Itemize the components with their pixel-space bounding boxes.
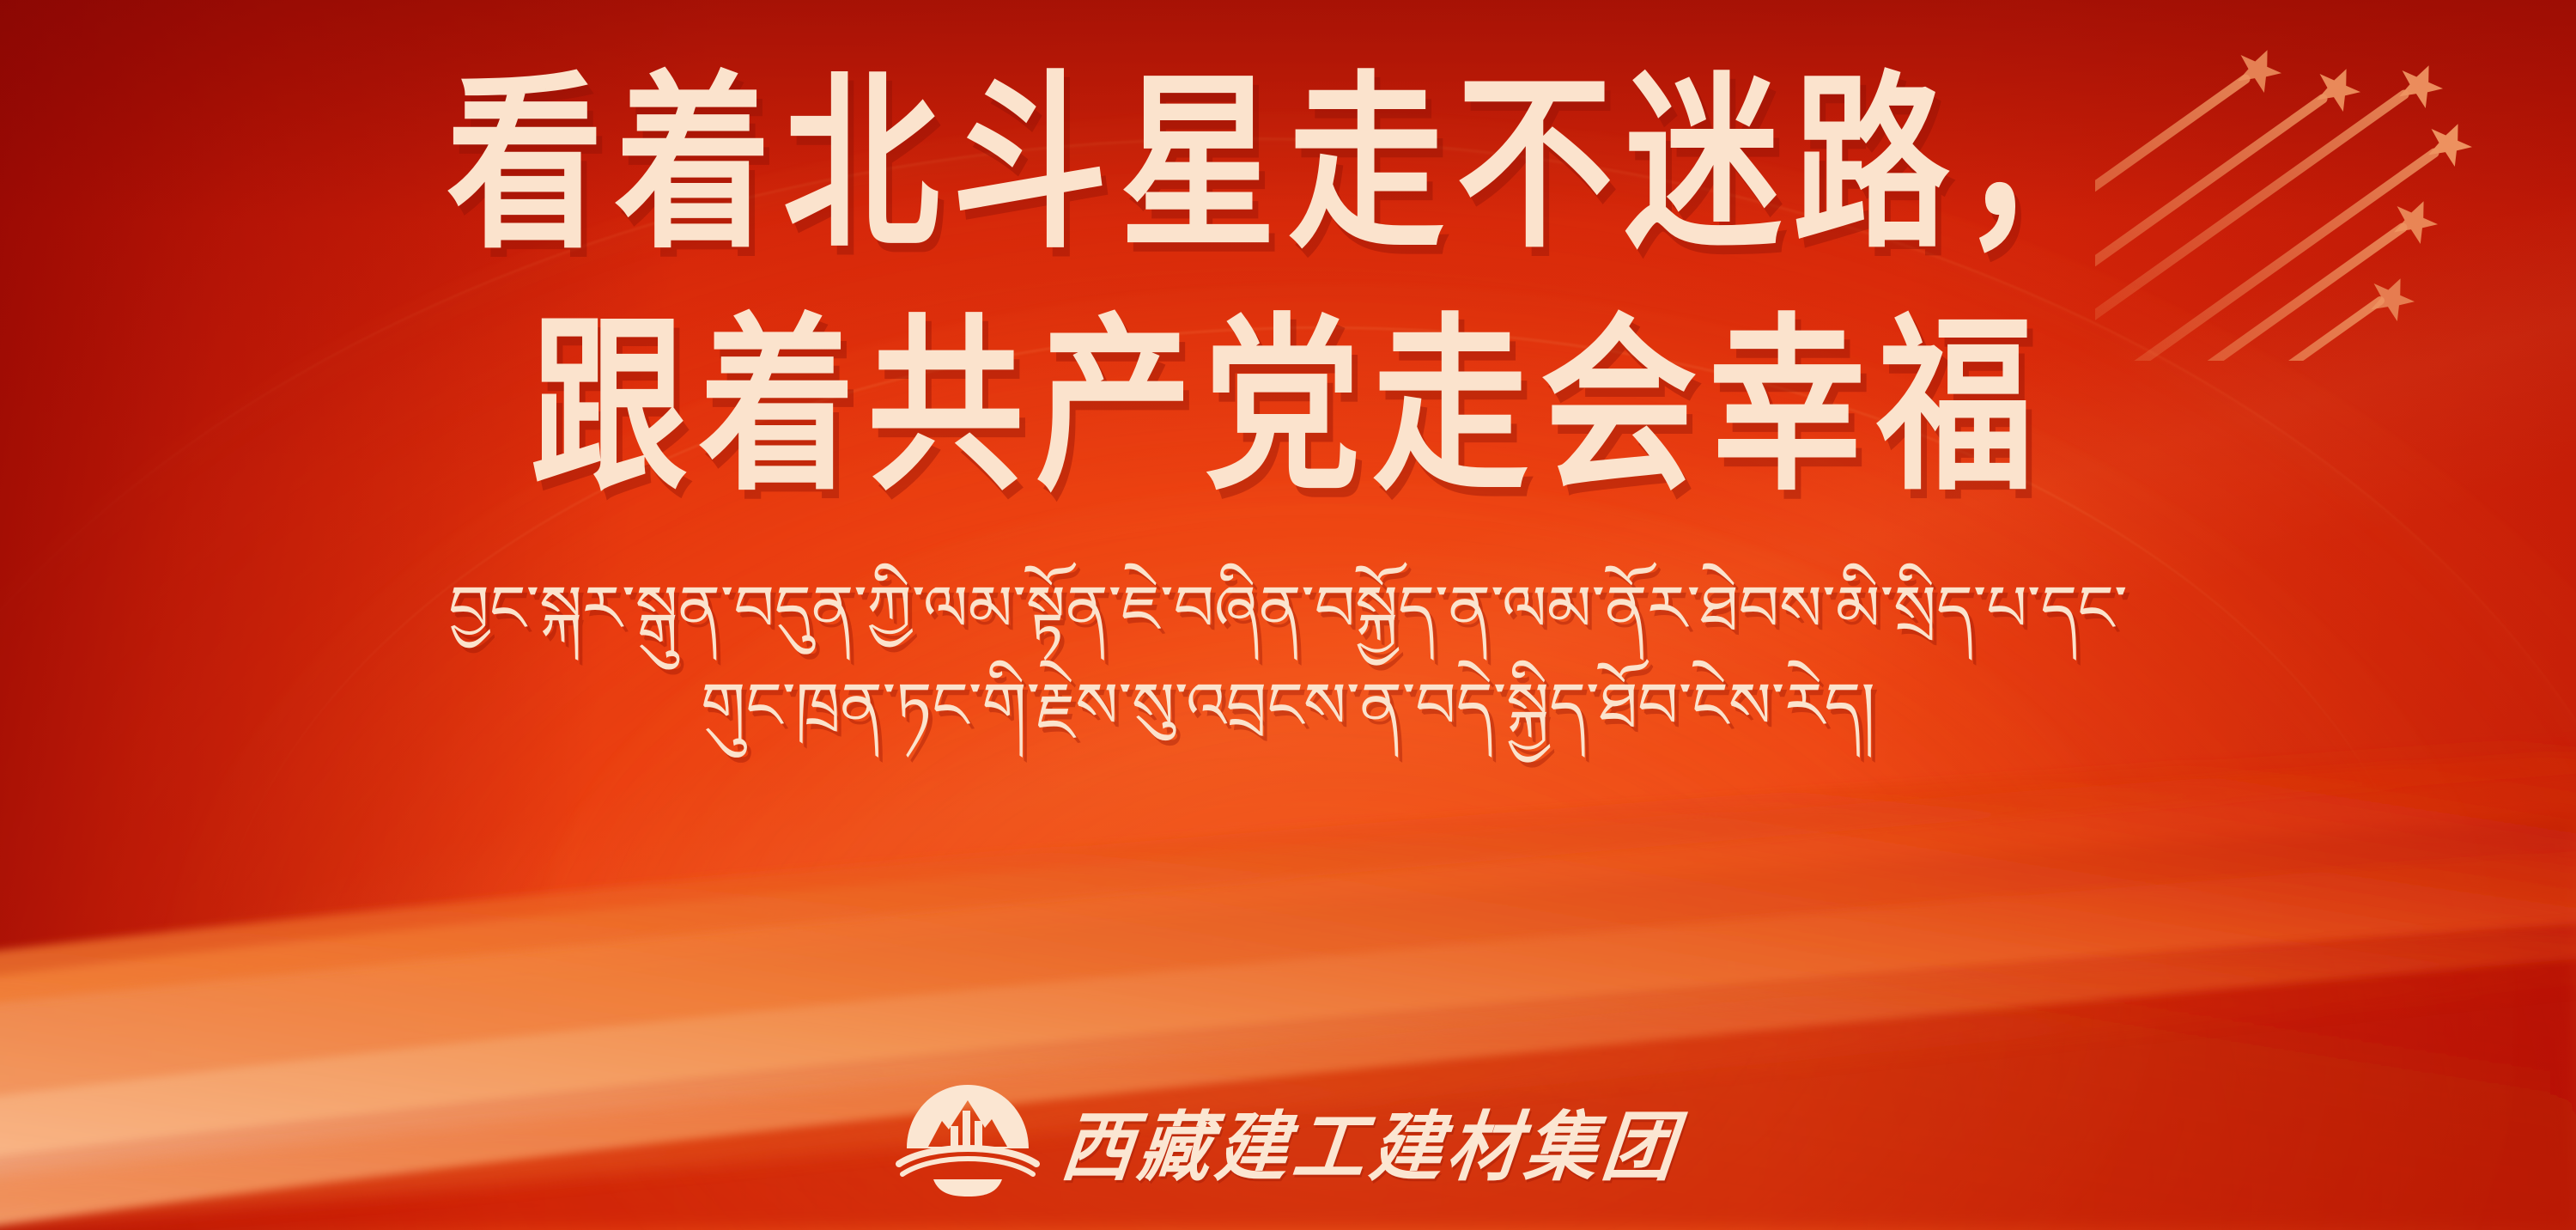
tibetan-line-2: གུང་ཁྲན་ཏང་གི་རྗེས་སུ་འབྲངས་ན་བདེ་སྐྱིད་…: [701, 664, 1875, 749]
poster-content: 看着北斗星走不迷路， 跟着共产党走会幸福 བྱང་སྐར་སྒུན་བདུན་ཀ…: [0, 0, 2576, 1230]
company-logo: 西藏建工建材集团: [0, 1080, 2576, 1203]
poster-canvas: 看着北斗星走不迷路， 跟着共产党走会幸福 བྱང་སྐར་སྒུན་བདུན་ཀ…: [0, 0, 2576, 1230]
headline-line-1: 看着北斗星走不迷路，: [447, 72, 2129, 260]
tibetan-line-1: བྱང་སྐར་སྒུན་བདུན་ཀྱི་ལམ་སྟོན་ཇེ་བཞིན་བས…: [448, 567, 2127, 652]
headline-line-2: 跟着共产党走会幸福: [531, 314, 2045, 502]
company-name-label: 西藏建工建材集团: [1056, 1087, 1686, 1196]
mountain-bridge-emblem-icon: [896, 1080, 1040, 1203]
